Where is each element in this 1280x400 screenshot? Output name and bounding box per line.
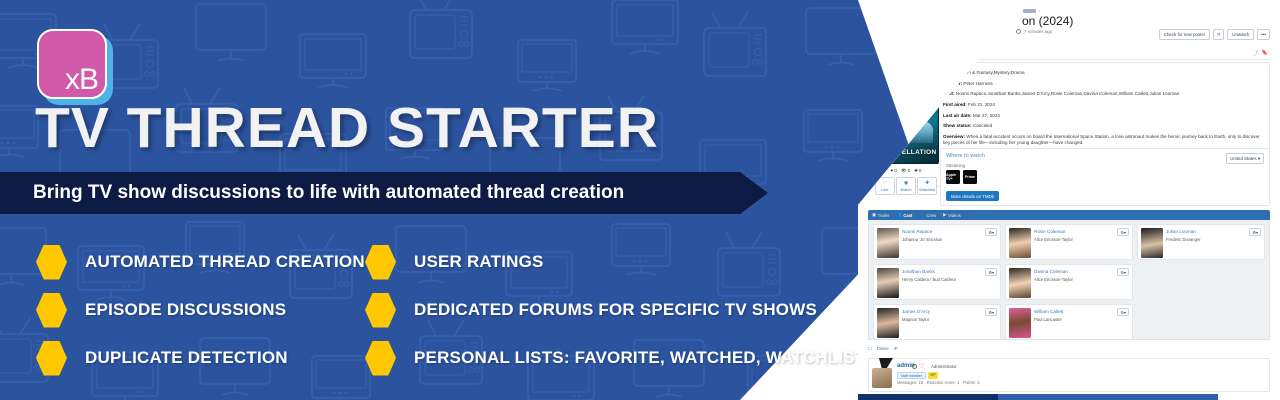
more-options-button[interactable]: ••• [1257,29,1270,40]
meta-genre: Genre: Sci-Fi & Fantasy,Mystery,Drama [943,70,1263,76]
feature-label: DUPLICATE DETECTION [85,348,288,368]
country-label: United States [1230,156,1256,161]
heart-icon: ♡ [919,363,924,370]
hexagon-bullet-icon [365,293,396,328]
meta-status-label: Show status: [943,123,972,128]
watchlist-label: Watchlist [919,187,935,192]
streaming-providers: Apple TV+ Prime [946,170,1264,184]
hexagon-bullet-icon [365,245,396,280]
tab-trailer-label: Trailer [878,213,890,218]
cast-photo [1009,268,1031,298]
meta-first-aired: First aired: Feb 21, 2024 [943,102,1263,108]
meta-director-value: Peter Harness [962,81,993,86]
hexagon-bullet-icon [365,341,396,376]
hexagon-bullet-icon [36,293,67,328]
tab-videos-label: Videos [948,213,961,218]
meta-overview: Overview: When a fatal accident occurs o… [943,134,1263,146]
where-to-watch-card: Where to watch United States ▾ Streaming… [940,148,1270,206]
cast-photo [877,308,899,338]
cast-grid-empty-cell [1137,264,1265,300]
feature-item: DEDICATED FORUMS FOR SPECIFIC TV SHOWS [365,286,865,334]
cast-role: Johanna 'Jo' Ericsson [902,237,942,242]
cast-card[interactable]: Jonathan Banks Henry Caldera / Bud Calde… [873,264,1001,300]
cast-role: Henry Caldera / Bud Caldera [902,277,956,282]
where-to-watch-heading: Where to watch [946,153,1264,159]
meta-director: Director: Peter Harness [943,81,1263,87]
cast-role: Paul Lancaster [1034,317,1063,322]
unwatch-button[interactable]: Unwatch [1227,29,1254,40]
video-icon: ▶ [943,212,946,218]
heart-icon: ♡ [876,180,894,187]
tagline-bar: Bring TV show discussions to life with a… [0,172,768,214]
cast-name[interactable]: Jonathan Banks [902,269,956,274]
person-icon: 👤 [919,212,924,218]
cast-name[interactable]: Noomi Rapace [902,229,942,234]
cast-photo [1009,308,1031,338]
post-block: admin ♡ Administrator Staff member VIP M… [868,358,1270,392]
cast-photo [877,228,899,258]
breadcrumb-separator: › [1039,8,1040,13]
feature-label: DEDICATED FORUMS FOR SPECIFIC TV SHOWS [414,300,817,320]
cast-panel: Noomi Rapace Johanna 'Jo' Ericsson ⚙▾ Ro… [868,220,1270,340]
feature-list-right: USER RATINGS DEDICATED FORUMS FOR SPECIF… [365,238,865,382]
tab-crew[interactable]: 👤 Crew [919,212,936,218]
breadcrumb[interactable]: › [1023,8,1040,13]
gear-icon[interactable]: ⚙▾ [1117,228,1129,236]
eye-icon: ◉ [897,180,915,187]
meta-last-air-date: Last air date: Mar 27, 2024 [943,113,1263,119]
cast-photo [877,268,899,298]
cast-role: Magnus Taylor [902,317,930,322]
tab-cast-label: Cast [903,213,912,218]
meta-overview-label: Overview: [943,134,965,139]
gear-icon[interactable]: ⚙▾ [985,228,997,236]
logo-tile: xB [37,29,107,99]
like-label: Like [881,187,888,192]
feature-item: AUTOMATED THREAD CREATION [36,238,365,286]
gear-icon[interactable]: ⚙▾ [1117,308,1129,316]
cast-name[interactable]: William Catlett [1034,309,1063,314]
meta-first-aired-label: First aired: [943,102,967,107]
watch-label: Watch [900,187,911,192]
cast-card[interactable]: Rosie Coleman Alice Ericsson-Taylor ⚙▾ [1005,224,1133,260]
badge-vip: VIP [928,372,939,379]
feature-list-left: AUTOMATED THREAD CREATION EPISODE DISCUS… [36,238,365,382]
hexagon-bullet-icon [36,341,67,376]
app-logo: xB [37,29,113,105]
cast-name[interactable]: James D'Arcy [902,309,930,314]
thread-title: on (2024) [1022,14,1073,28]
provider-logo-apple-tv[interactable]: Apple TV+ [946,170,960,184]
plus-icon: ✚ [918,180,936,187]
select-checkbox[interactable]: ☐ [868,346,872,351]
clock-icon [1016,29,1021,34]
delete-link[interactable]: Delete [877,346,889,351]
post-user-stats: Messages: 16 · Reaction score: 1 · Point… [897,380,979,385]
watchlist-count: ✚ 0 [914,168,921,174]
feature-item: USER RATINGS [365,238,865,286]
meta-first-aired-value: Feb 21, 2024 [967,102,995,107]
tab-crew-label: Crew [926,213,936,218]
meta-status-value: Canceled [972,123,993,128]
provider-logo-prime[interactable]: Prime [963,170,977,184]
cast-card[interactable]: Julian Looman Frederic Duvanger ⚙▾ [1137,224,1265,260]
gear-icon[interactable]: ⚙▾ [985,308,997,316]
thread-timestamp: 7 minutes ago [1024,29,1052,34]
poster-action-buttons: ♡ Like ◉ Watch ✚ Watchlist [875,177,937,195]
watch-count: 👁 0 [901,168,910,174]
meta-cast-value: Noomi Rapace,Jonathan Banks,James D'Arcy… [955,91,1180,96]
refresh-icon[interactable]: ⟳ [1213,29,1224,40]
cast-name[interactable]: Rosie Coleman [1034,229,1073,234]
users-icon: 👥 [896,212,901,218]
scrollbar-thumb[interactable] [858,394,998,400]
feature-item: EPISODE DISCUSSIONS [36,286,365,334]
post-controls-row: ☐ Delete IP [868,346,1270,351]
hexagon-bullet-icon [36,245,67,280]
post-user-role: Administrator [931,364,957,369]
meta-overview-value: When a fatal accident occurs on board th… [943,134,1260,145]
like-count: ♥ 0 [891,168,897,174]
meta-cast: Cast: Noomi Rapace,Jonathan Banks,James … [943,91,1263,97]
feature-label: USER RATINGS [414,252,544,272]
cast-card[interactable]: Noomi Rapace Johanna 'Jo' Ericsson ⚙▾ [873,224,1001,260]
cast-role: Frederic Duvanger [1166,237,1201,242]
tagline-text: Bring TV show discussions to life with a… [33,182,624,204]
gear-icon[interactable]: ⚙▾ [985,268,997,276]
cast-photo [1009,228,1031,258]
logo-text: xB [65,65,98,95]
watchlist-button[interactable]: ✚ Watchlist [917,177,937,195]
streaming-label: Streaming [946,163,1264,168]
meta-last-air-label: Last air date: [943,113,972,118]
check-for-new-poster-button[interactable]: Check for new poster [1159,29,1211,40]
tab-videos[interactable]: ▶ Videos [943,212,961,218]
clock-icon [912,364,917,369]
film-icon: ▣ [872,212,876,218]
tab-trailer[interactable]: ▣ Trailer [872,212,889,218]
feature-item: DUPLICATE DETECTION [36,334,365,382]
share-icon[interactable]: ⤴ [1253,50,1258,57]
page-title: TV THREAD STARTER [35,100,659,157]
cast-name[interactable]: Julian Looman [1166,229,1201,234]
watch-button[interactable]: ◉ Watch [896,177,916,195]
feature-item: PERSONAL LISTS: FAVORITE, WATCHED, WATCH… [365,334,865,382]
cast-card[interactable]: Davina Coleman Alice Ericsson-Taylor ⚙▾ [1005,264,1133,300]
gear-icon[interactable]: ⚙▾ [1117,268,1129,276]
cast-card[interactable]: James D'Arcy Magnus Taylor ⚙▾ [873,304,1001,340]
meta-last-air-value: Mar 27, 2024 [972,113,1000,118]
feature-label: AUTOMATED THREAD CREATION [85,252,365,272]
meta-show-status: Show status: Canceled [943,123,1263,129]
bookmark-icon[interactable]: 🔖 [1262,50,1268,56]
breadcrumb-chip [1023,9,1036,13]
country-selector[interactable]: United States ▾ [1226,153,1264,164]
cast-photo [1141,228,1163,258]
feature-label: PERSONAL LISTS: FAVORITE, WATCHED, WATCH… [414,348,865,368]
thread-action-buttons: Check for new poster ⟳ Unwatch ••• [1159,29,1270,40]
media-tabs: ▣ Trailer 👥 Cast 👤 Crew ▶ Videos [868,210,1270,220]
badge-staff-member: Staff member [897,372,926,379]
tab-cast[interactable]: 👥 Cast [896,212,912,218]
feature-label: EPISODE DISCUSSIONS [85,300,286,320]
cast-name[interactable]: Davina Coleman [1034,269,1073,274]
ip-link[interactable]: IP [894,346,898,351]
cast-role: Alice Ericsson-Taylor [1034,277,1073,282]
avatar[interactable] [872,368,892,388]
post-user-badges: Staff member VIP [897,372,938,379]
cast-grid-empty-cell [1137,304,1265,340]
cast-grid: Noomi Rapace Johanna 'Jo' Ericsson ⚙▾ Ro… [873,224,1265,340]
more-details-on-tmdb-button[interactable]: More details on TMDb [946,191,999,201]
cast-role: Alice Ericsson-Taylor [1034,237,1073,242]
cast-card[interactable]: William Catlett Paul Lancaster ⚙▾ [1005,304,1133,340]
gear-icon[interactable]: ⚙▾ [1249,228,1261,236]
